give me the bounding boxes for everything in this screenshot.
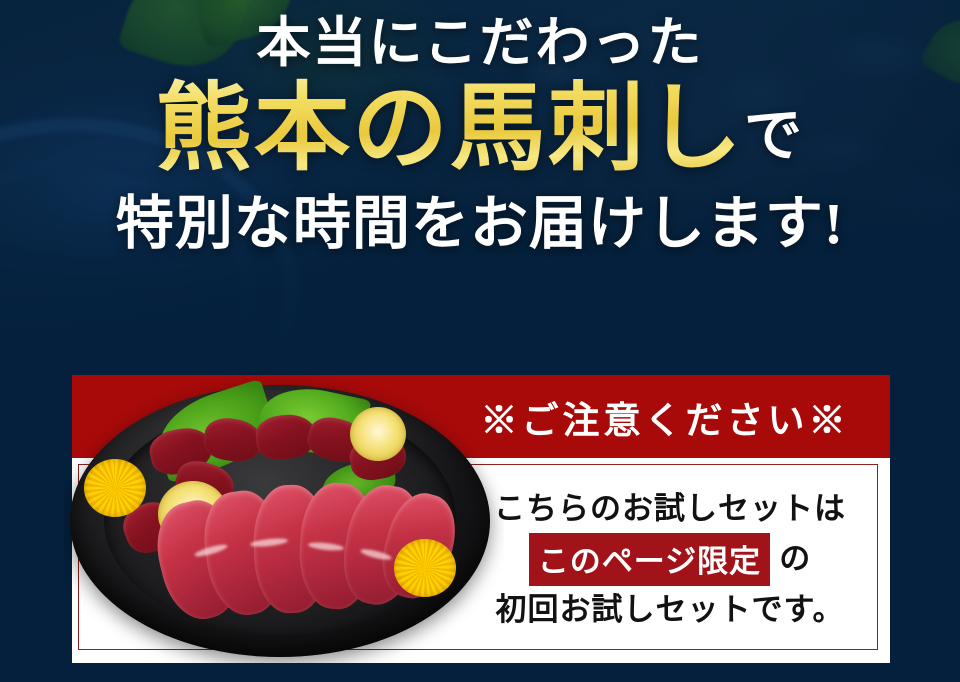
notice-line-2-suffix: の	[779, 538, 811, 580]
notice-line-2: このページ限定 の	[529, 533, 811, 586]
heading-line-1: 本当にこだわった	[0, 14, 960, 72]
hero-heading: 本当にこだわった 熊本の馬刺しで 特別な時間をお届けします!	[0, 0, 960, 257]
chrysanthemum-icon	[394, 539, 456, 597]
heading-gold-text: 熊本の馬刺し	[156, 75, 744, 182]
promo-banner: 本当にこだわった 熊本の馬刺しで 特別な時間をお届けします! ※ご注意ください※	[0, 0, 960, 682]
notice-line-3: 初回お試しセットです。	[496, 589, 845, 631]
page-limited-badge: このページ限定	[529, 533, 770, 586]
heading-line-3: 特別な時間をお届けします!	[0, 192, 960, 257]
notice-line-1: こちらのお試しセットは	[494, 488, 846, 530]
heading-line-2: 熊本の馬刺しで	[0, 76, 960, 182]
notice-text-block: こちらのお試しセットは このページ限定 の 初回お試しセットです。	[468, 471, 872, 647]
basashi-plate-photo	[64, 371, 504, 663]
lemon-slice-icon	[350, 407, 406, 461]
chrysanthemum-icon	[84, 459, 146, 517]
notice-card: ※ご注意ください※	[72, 375, 890, 663]
heading-line-2-suffix: で	[744, 103, 804, 168]
notice-banner-title: ※ご注意ください※	[440, 375, 890, 458]
